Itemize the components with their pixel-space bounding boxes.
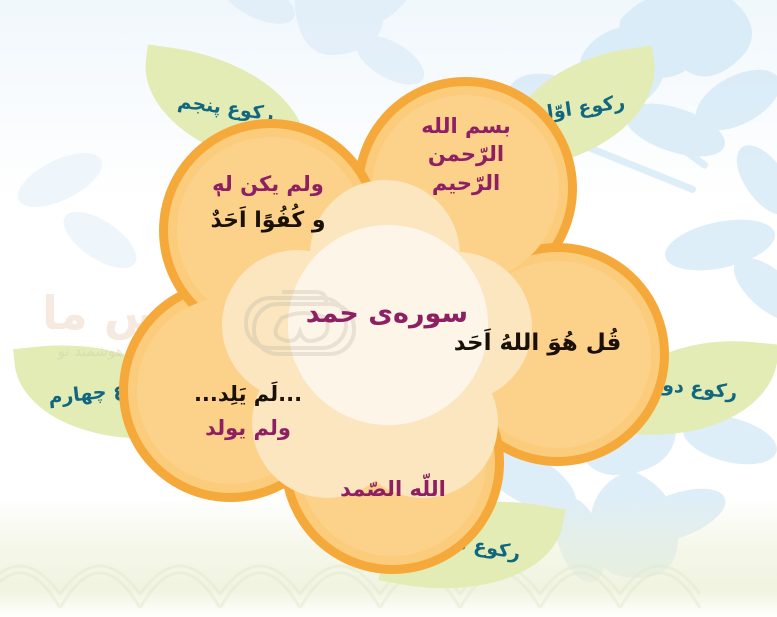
- petal-kufuwan-ahad-text: ولم یکن له‌ٖ و کُفُوًا اَحَدٌ: [178, 170, 358, 236]
- petal-lam-yalid-line-1: ...لَم یَلِد...: [158, 380, 338, 408]
- poster-canvas: رکوع اوّل رکوع دوم رکوع سوم رکوع چهارم ر…: [0, 0, 777, 617]
- petal-allah-as-samad-text: اللّه الصّمد: [318, 475, 468, 503]
- petal-qul-huwa-allah-ahad-text: قُل هُوَ اللهُ اَحَد: [450, 328, 625, 359]
- petal-lam-yalid-line-2: ولم یولد: [158, 414, 338, 442]
- petal-bismillah-line-2: الرّحمن: [386, 140, 546, 168]
- flower-diagram: بسم الله الرّحمن الرّحیم قُل هُوَ اللهُ …: [0, 0, 777, 617]
- flower-center-label: سوره‌ی حمد: [308, 296, 468, 332]
- petal-allah-as-samad-line-1: اللّه الصّمد: [318, 475, 468, 503]
- flower-center-label-text: سوره‌ی حمد: [308, 296, 468, 332]
- petal-kufuwan-ahad-line-2: و کُفُوًا اَحَدٌ: [178, 206, 358, 236]
- petal-lam-yalid-text: ...لَم یَلِد... ولم یولد: [158, 380, 338, 443]
- petal-qul-huwa-allah-ahad-line-1: قُل هُوَ اللهُ اَحَد: [450, 328, 625, 359]
- petal-kufuwan-ahad-line-1: ولم یکن له‌ٖ: [178, 170, 358, 198]
- petal-bismillah-line-3: الرّحیم: [386, 169, 546, 197]
- petal-bismillah-text: بسم الله الرّحمن الرّحیم: [386, 112, 546, 197]
- petal-bismillah-line-1: بسم الله: [386, 112, 546, 140]
